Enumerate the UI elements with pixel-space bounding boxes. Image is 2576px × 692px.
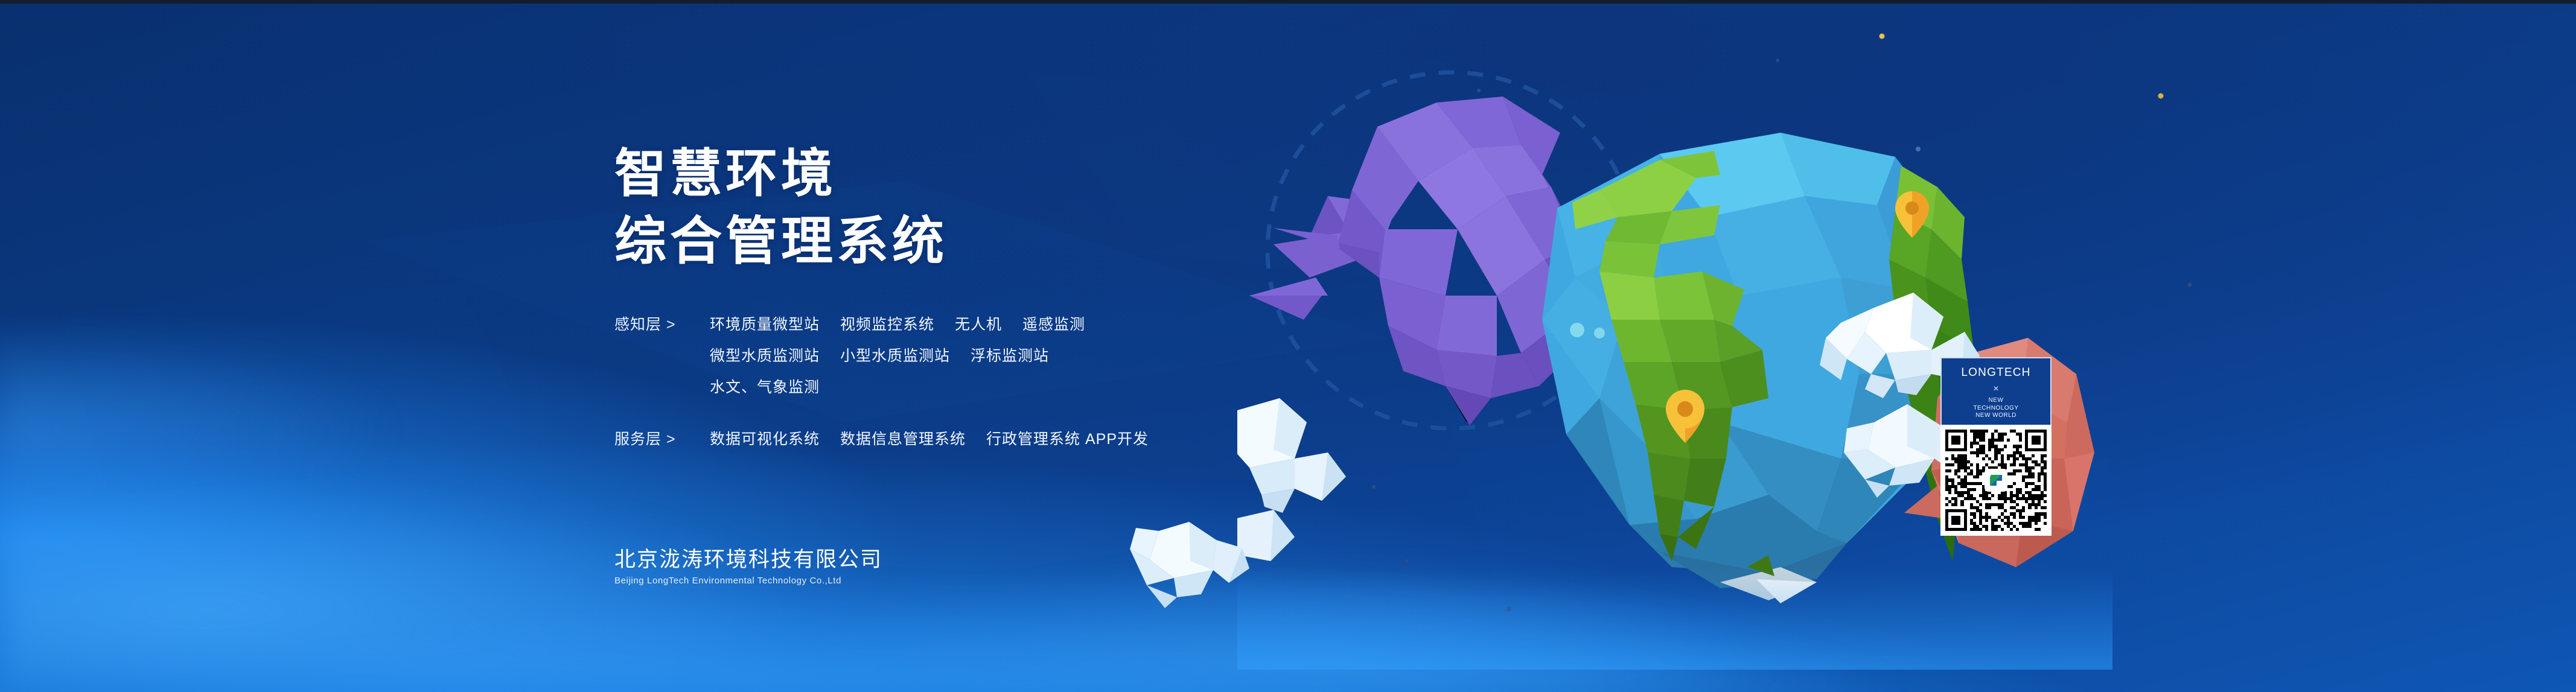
feature-item[interactable]: 数据可视化系统 — [710, 427, 820, 451]
longtech-logo-mark — [1990, 475, 2002, 486]
feature-item[interactable]: 水文、气象监测 — [710, 375, 820, 399]
qr-brand-label: LONGTECH — [1961, 366, 2030, 380]
feature-item[interactable]: 遥感监测 — [1022, 313, 1085, 337]
cross-icon: × — [1993, 383, 1998, 396]
items-line: 数据可视化系统 数据信息管理系统 行政管理系统 APP开发 — [710, 427, 1149, 451]
qr-tagline-line-3: NEW WORLD — [1973, 412, 2018, 420]
qr-card[interactable]: LONGTECH × NEW TECHNOLOGY NEW WORLD — [1940, 357, 2052, 536]
banner-root: 智慧环境 综合管理系统 感知层 > 环境质量微型站 视频监控系统 无人机 遥感监… — [0, 0, 2576, 692]
hero-copy: 智慧环境 综合管理系统 感知层 > 环境质量微型站 视频监控系统 无人机 遥感监… — [614, 140, 1459, 475]
layer-label-sensing: 感知层 > — [614, 313, 692, 337]
qr-center-logo — [1986, 470, 2006, 490]
qr-tagline-line-2: TECHNOLOGY — [1973, 405, 2018, 413]
feature-item[interactable]: 无人机 — [955, 313, 1002, 337]
layer-row-sensing: 感知层 > 环境质量微型站 视频监控系统 无人机 遥感监测 微型水质监测站 小型… — [614, 313, 1459, 399]
layer-items-service: 数据可视化系统 数据信息管理系统 行政管理系统 APP开发 — [710, 427, 1149, 451]
company-identity: 北京泷涛环境科技有限公司 Beijing LongTech Environmen… — [614, 546, 882, 588]
star-dot — [2188, 283, 2192, 287]
company-name-en: Beijing LongTech Environmental Technolog… — [614, 574, 882, 588]
layer-label-service: 服务层 > — [614, 427, 692, 451]
feature-item[interactable]: 数据信息管理系统 — [840, 427, 966, 451]
layer-row-service: 服务层 > 数据可视化系统 数据信息管理系统 行政管理系统 APP开发 — [614, 427, 1459, 451]
qr-tagline-line-1: NEW — [1973, 397, 2018, 405]
page-title-line-2: 综合管理系统 — [614, 208, 1459, 275]
qr-code-wrap[interactable] — [1945, 430, 2047, 531]
items-line: 环境质量微型站 视频监控系统 无人机 遥感监测 — [710, 313, 1085, 337]
items-line: 水文、气象监测 — [710, 375, 1085, 399]
qr-code-area[interactable] — [1940, 425, 2052, 536]
qr-tagline: NEW TECHNOLOGY NEW WORLD — [1973, 397, 2018, 420]
star-dot — [2158, 94, 2164, 99]
feature-item[interactable]: 行政管理系统 APP开发 — [986, 427, 1149, 451]
feature-item[interactable]: 小型水质监测站 — [840, 344, 950, 368]
bottom-glow — [1237, 567, 2112, 670]
qr-card-header: LONGTECH × NEW TECHNOLOGY NEW WORLD — [1940, 357, 2052, 425]
layer-items-sensing: 环境质量微型站 视频监控系统 无人机 遥感监测 微型水质监测站 小型水质监测站 … — [710, 313, 1085, 399]
feature-item[interactable]: 微型水质监测站 — [710, 344, 820, 368]
globe-dot — [1594, 328, 1605, 338]
feature-item[interactable]: 视频监控系统 — [840, 313, 934, 337]
globe-dot — [1570, 323, 1584, 337]
company-name-cn: 北京泷涛环境科技有限公司 — [614, 546, 882, 574]
feature-item[interactable]: 环境质量微型站 — [710, 313, 820, 337]
page-title-line-1: 智慧环境 — [614, 140, 1459, 208]
cloud-lower-center — [1123, 507, 1304, 615]
feature-item[interactable]: 浮标监测站 — [971, 344, 1049, 368]
items-line: 微型水质监测站 小型水质监测站 浮标监测站 — [710, 344, 1085, 368]
feature-layers: 感知层 > 环境质量微型站 视频监控系统 无人机 遥感监测 微型水质监测站 小型… — [614, 313, 1459, 451]
